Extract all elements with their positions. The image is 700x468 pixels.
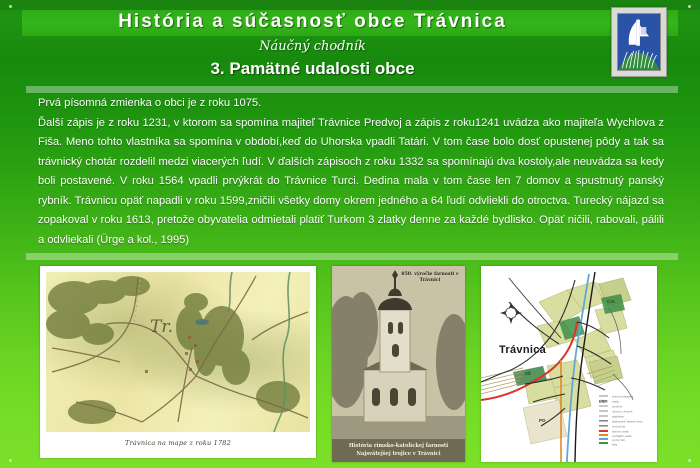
svg-text:hranica katastra: hranica katastra <box>612 394 634 398</box>
area-tag-pd: PD <box>539 418 545 423</box>
section-title: 3. Pamätné udalosti obce <box>30 59 595 79</box>
corner-dot-top-left <box>9 5 12 8</box>
area-tag-cin: Cin. <box>607 299 616 304</box>
svg-text:chodník: chodník <box>612 404 623 408</box>
paragraph-2: Ďalší zápis je z roku 1231, v ktorom sa … <box>38 114 664 251</box>
svg-text:lesy: lesy <box>612 443 618 447</box>
page-title: História a súčasnosť obce Trávnica <box>30 11 595 33</box>
paragraph-1: Prvá písomná zmienka o obci je z roku 10… <box>38 94 664 114</box>
corner-dot-top-right <box>688 5 691 8</box>
svg-text:cesta: cesta <box>612 399 619 403</box>
church-anniversary-text: 850. výročie farnosti v Trávnici <box>400 272 460 285</box>
figure-row: Tr. Trávnica na mape z roku 1782 <box>0 266 700 466</box>
church-book-title: História rímsko-katolíckej farnosti Najs… <box>332 439 465 462</box>
svg-text:vodný tok: vodný tok <box>612 438 625 442</box>
top-strip <box>0 0 700 10</box>
figure-village-map: hranica katastra cesta chodník náučný ch… <box>481 266 657 462</box>
svg-text:zastávka: zastávka <box>612 414 624 418</box>
divider-top <box>26 86 678 93</box>
village-map-image: hranica katastra cesta chodník náučný ch… <box>481 266 657 462</box>
page-subtitle: Náučný chodník <box>30 39 595 54</box>
figure-caption-old-map: Trávnica na mape z roku 1782 <box>46 432 310 447</box>
figure-church: 850. výročie farnosti v Trávnici Históri… <box>332 266 465 462</box>
svg-text:zastavané územie obce: zastavané územie obce <box>612 419 643 423</box>
coat-of-arms-icon <box>617 13 661 71</box>
plough-icon <box>618 14 660 70</box>
road-number-label: I/80 <box>599 399 607 404</box>
figure-old-map: Tr. Trávnica na mape z roku 1782 <box>40 266 316 458</box>
divider-bottom <box>26 253 678 260</box>
svg-text:vedľajšia cesta: vedľajšia cesta <box>612 434 632 438</box>
coat-of-arms-frame <box>611 7 667 77</box>
church-photo-image: 850. výročie farnosti v Trávnici Históri… <box>332 266 465 462</box>
old-map-image: Tr. <box>46 272 310 432</box>
area-tag-zs: ZŠ <box>525 371 531 376</box>
village-map-label: Trávnica <box>499 344 546 356</box>
svg-text:náučný chodník: náučný chodník <box>612 409 633 413</box>
svg-text:orná pôda: orná pôda <box>612 424 626 428</box>
presentation-slide: História a súčasnosť obce Trávnica Náučn… <box>0 0 700 468</box>
svg-text:Tr.: Tr. <box>150 317 173 337</box>
svg-text:hlavná cesta: hlavná cesta <box>612 429 629 433</box>
body-text: Prvá písomná zmienka o obci je z roku 10… <box>38 94 664 250</box>
